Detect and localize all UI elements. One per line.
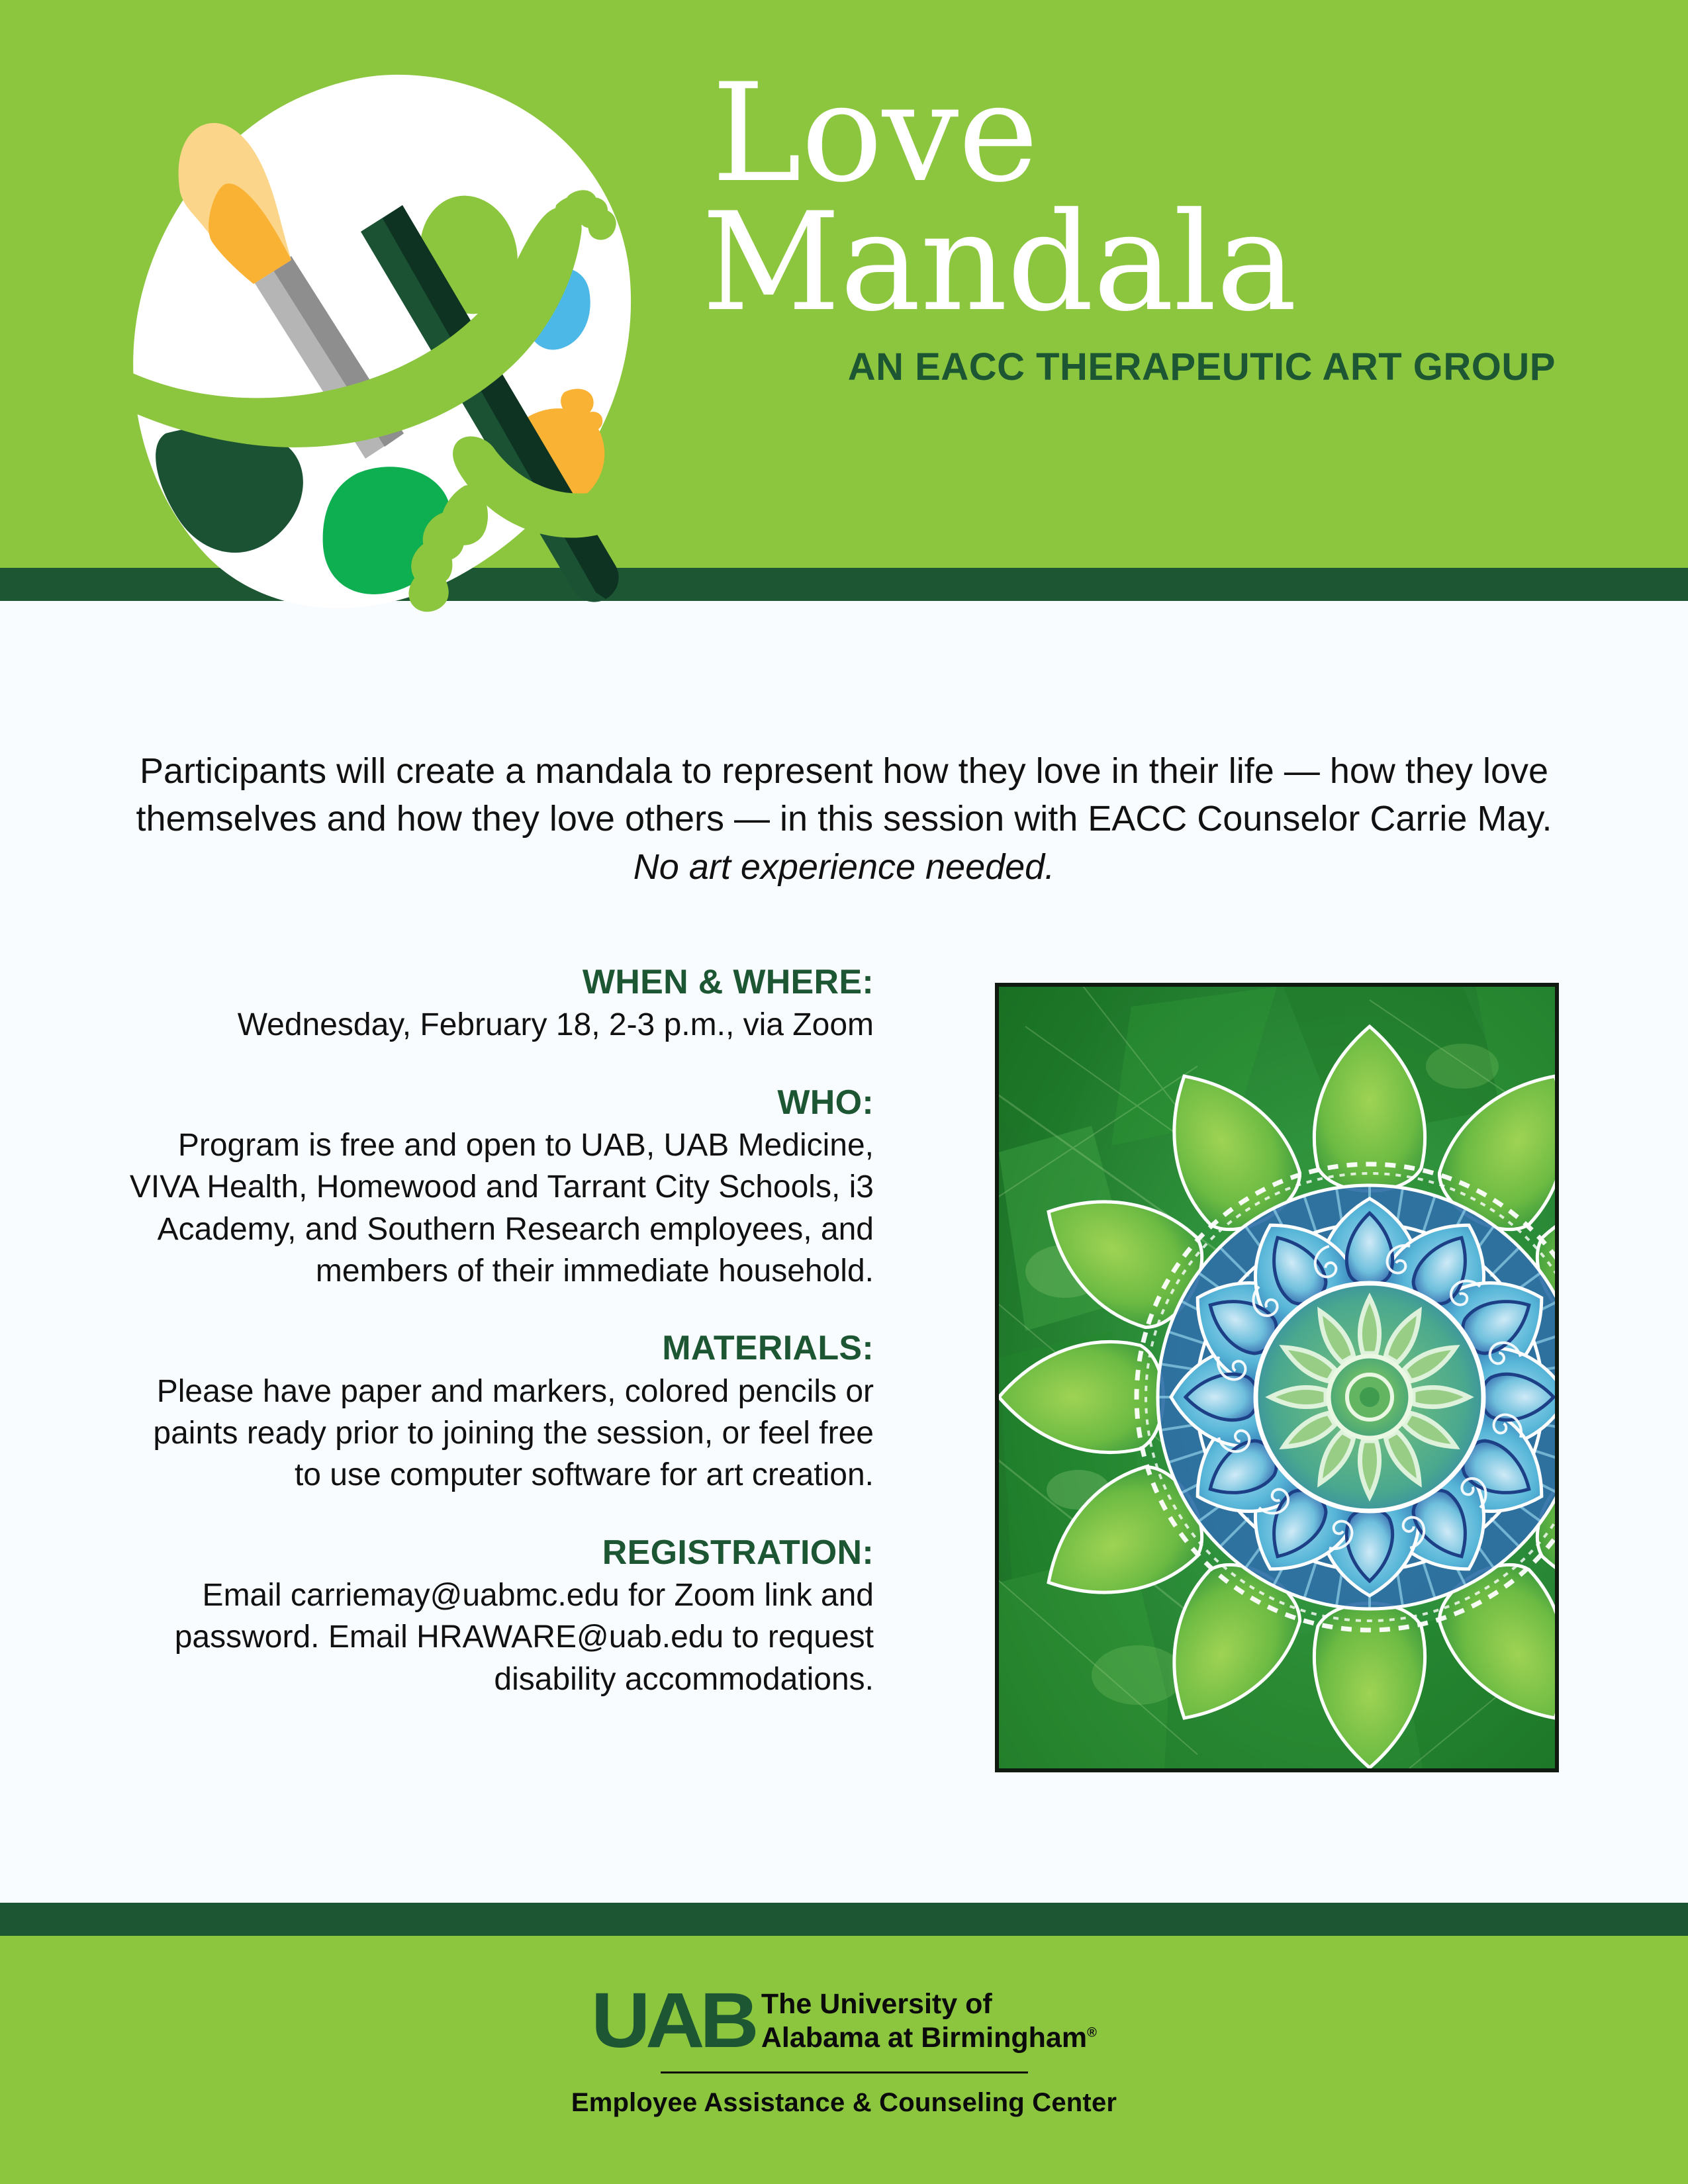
details-column: WHEN & WHERE: Wednesday, February 18, 2-… (119, 963, 874, 1700)
intro-italic-note: No art experience needed. (633, 847, 1055, 887)
uab-logo: UAB The University of Alabama at Birming… (591, 1987, 1097, 2054)
section-body: Wednesday, February 18, 2-3 p.m., via Zo… (119, 1004, 874, 1046)
section-body: Please have paper and markers, colored p… (119, 1371, 874, 1496)
section-when-where: WHEN & WHERE: Wednesday, February 18, 2-… (119, 963, 874, 1046)
intro-paragraph: Participants will create a mandala to re… (119, 747, 1569, 891)
mandala-artwork (995, 983, 1559, 1772)
footer: UAB The University of Alabama at Birming… (0, 1936, 1688, 2184)
paint-palette-and-brush-illustration (93, 63, 669, 645)
section-body: Email carriemay@uabmc.edu for Zoom link … (119, 1574, 874, 1700)
page-title-line-2: Mandala (702, 199, 1556, 328)
section-label: WHEN & WHERE: (119, 963, 874, 1001)
section-body: Program is free and open to UAB, UAB Med… (119, 1124, 874, 1292)
section-who: WHO: Program is free and open to UAB, UA… (119, 1083, 874, 1293)
section-registration: REGISTRATION: Email carriemay@uabmc.edu … (119, 1533, 874, 1700)
flyer-page: Love Mandala AN EACC THERAPEUTIC ART GRO… (0, 0, 1688, 2184)
uab-logo-line-2-wrap: Alabama at Birmingham® (761, 2021, 1097, 2055)
registered-trademark-icon: ® (1087, 2025, 1097, 2040)
section-materials: MATERIALS: Please have paper and markers… (119, 1329, 874, 1496)
section-label: REGISTRATION: (119, 1533, 874, 1572)
footer-dark-green-rule (0, 1903, 1688, 1936)
uab-logo-text: The University of Alabama at Birmingham® (761, 1987, 1097, 2054)
section-label: MATERIALS: (119, 1329, 874, 1367)
section-label: WHO: (119, 1083, 874, 1122)
uab-logo-line-1: The University of (761, 1987, 1097, 2021)
title-block: Love Mandala AN EACC THERAPEUTIC ART GRO… (702, 69, 1556, 389)
footer-unit-name: Employee Assistance & Counseling Center (571, 2088, 1117, 2118)
footer-divider (661, 2071, 1028, 2073)
page-title-line-1: Love (712, 69, 1556, 199)
page-subtitle: AN EACC THERAPEUTIC ART GROUP (702, 345, 1556, 389)
intro-text: Participants will create a mandala to re… (136, 751, 1552, 839)
uab-logo-line-2: Alabama at Birmingham (761, 2022, 1087, 2054)
uab-wordmark: UAB (591, 1987, 754, 2054)
